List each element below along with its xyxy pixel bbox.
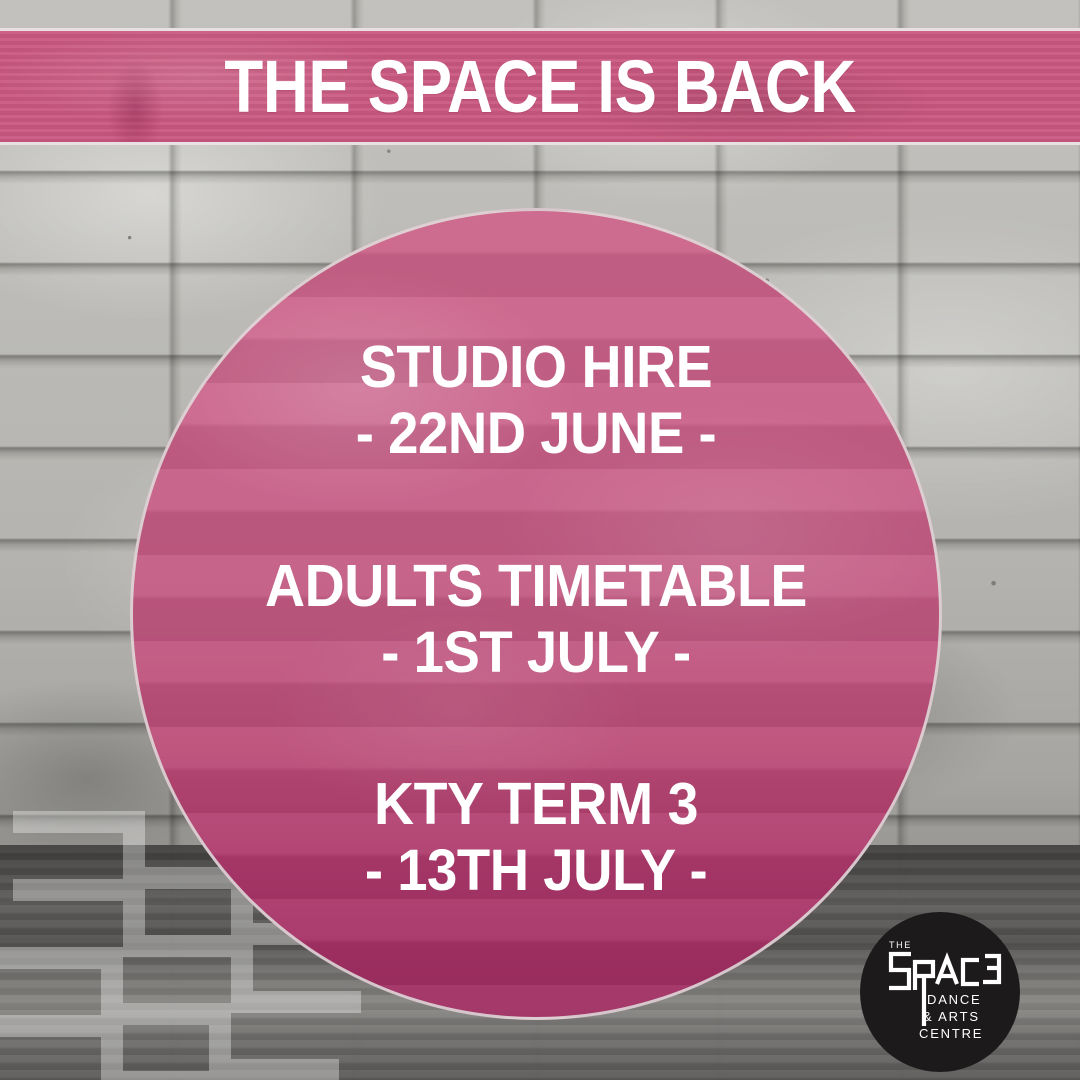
top-banner: THE SPACE IS BACK: [0, 28, 1080, 145]
logo-line1-text: DANCE: [927, 992, 982, 1007]
logo-line3-text: CENTRE: [919, 1026, 983, 1041]
logo-line2-text: & ARTS: [923, 1009, 980, 1024]
event-item: STUDIO HIRE - 22ND JUNE -: [133, 337, 939, 464]
event-date: - 13TH JULY -: [157, 841, 915, 901]
poster: THE SPACE IS BACK STUDIO HIRE - 22ND JUN…: [0, 0, 1080, 1080]
event-item: ADULTS TIMETABLE - 1ST JULY -: [133, 556, 939, 683]
event-date: - 1ST JULY -: [157, 623, 915, 683]
logo-the-text: THE: [889, 940, 912, 950]
brand-logo: THE DANCE & ARTS CENTRE: [860, 912, 1020, 1072]
space-dance-arts-centre-logo-icon: THE DANCE & ARTS CENTRE: [875, 932, 1005, 1052]
banner-title: THE SPACE IS BACK: [224, 50, 856, 124]
event-title: KTY TERM 3: [157, 774, 915, 835]
event-item: KTY TERM 3 - 13TH JULY -: [133, 774, 939, 901]
event-title: STUDIO HIRE: [157, 337, 915, 398]
event-title: ADULTS TIMETABLE: [157, 556, 915, 617]
event-circle: STUDIO HIRE - 22ND JUNE - ADULTS TIMETAB…: [130, 208, 942, 1020]
event-list: STUDIO HIRE - 22ND JUNE - ADULTS TIMETAB…: [133, 327, 939, 901]
event-date: - 22ND JUNE -: [157, 404, 915, 464]
